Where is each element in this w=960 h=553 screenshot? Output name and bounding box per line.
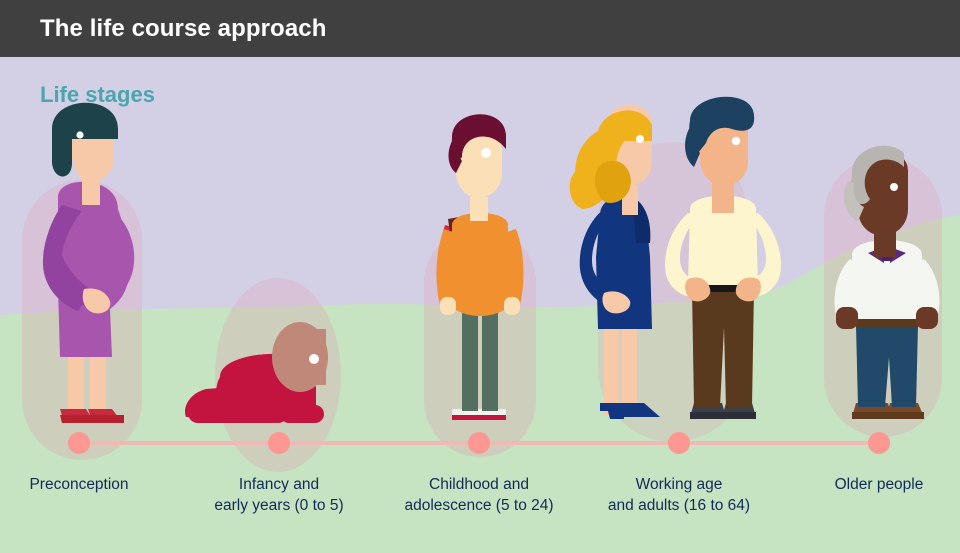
infographic-root: The life course approach Life stages [0,0,960,553]
timeline-dot-infancy[interactable] [268,432,290,454]
page-title: The life course approach [0,15,326,43]
stage-label-older-people: Older people [759,474,960,495]
timeline-dot-working-age[interactable] [668,432,690,454]
title-bar: The life course approach [0,0,960,57]
timeline-dot-older-people[interactable] [868,432,890,454]
section-heading: Life stages [40,82,155,108]
timeline-dot-preconception[interactable] [68,432,90,454]
timeline-dot-childhood[interactable] [468,432,490,454]
